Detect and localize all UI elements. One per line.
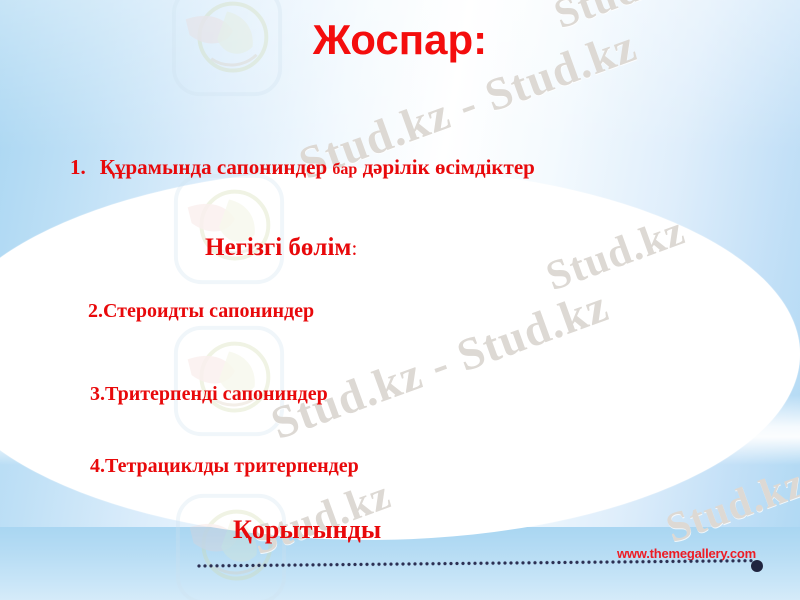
outline-item-1-number: 1.	[70, 155, 86, 179]
outline-item-1-text-before: Құрамында сапониндер	[100, 155, 327, 179]
footer-endpoint-dot	[751, 560, 763, 572]
section-heading-label: Негізгі бөлім	[205, 234, 351, 261]
outline-item-1: 1.Құрамында сапониндер бар дәрілік өсімд…	[70, 155, 535, 180]
presentation-slide: Stud.kz - Stud.kz Stud.kz - Stud.kz Stud…	[0, 0, 800, 600]
slide-content: Жоспар: 1.Құрамында сапониндер бар дәріл…	[0, 0, 800, 600]
outline-item-1-text-small: бар	[332, 161, 357, 178]
section-heading: Негізгі бөлім:	[205, 234, 357, 262]
outline-item-2: 2.Стероидты сапониндер	[88, 300, 314, 323]
outline-item-conclusion: Қорытынды	[233, 515, 381, 545]
outline-item-1-text-after: дәрілік өсімдіктер	[363, 155, 535, 179]
page-title: Жоспар:	[0, 16, 800, 64]
footer-dotted-rule	[196, 559, 755, 568]
section-heading-colon: :	[351, 236, 357, 260]
outline-item-3: 3.Тритерпенді сапониндер	[90, 383, 328, 406]
outline-item-4: 4.Тетрациклды тритерпендер	[90, 455, 359, 478]
